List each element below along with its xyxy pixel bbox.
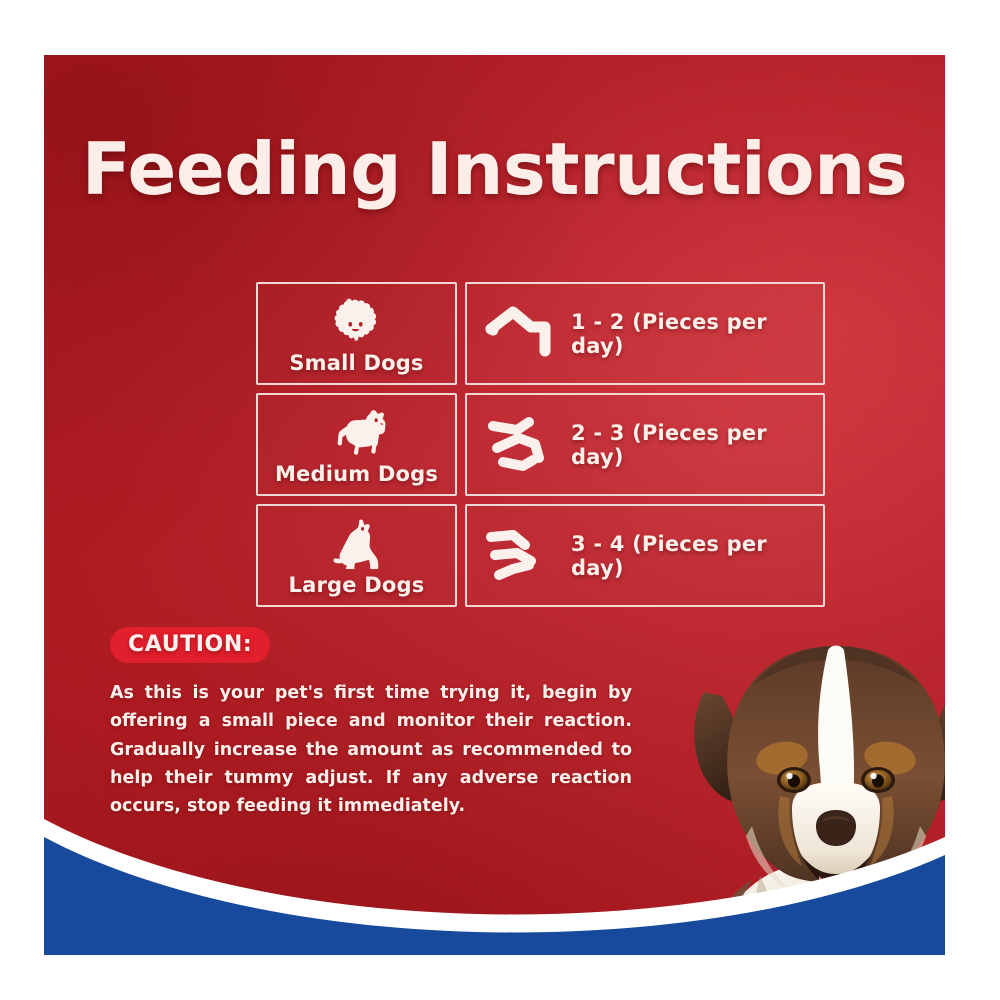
sitting-dog-silhouette-icon — [330, 519, 383, 569]
one-chew-stick-icon — [483, 303, 557, 365]
feeding-instructions-graphic: Feeding Instructions Small Dogs — [0, 0, 1000, 1000]
amount-cell-large: 3 - 4 (Pieces per day) — [465, 504, 825, 607]
size-cell-large: Large Dogs — [256, 504, 457, 607]
table-row: Small Dogs 1 - 2 (Pieces per d — [256, 282, 825, 385]
page-title: Feeding Instructions — [44, 133, 945, 205]
australian-shepherd-dog-photo — [656, 630, 945, 955]
feeding-table: Small Dogs 1 - 2 (Pieces per d — [256, 282, 825, 615]
amount-cell-small: 1 - 2 (Pieces per day) — [465, 282, 825, 385]
table-row: Large Dogs 3 - 4 (Pieces per day) — [256, 504, 825, 607]
red-panel: Feeding Instructions Small Dogs — [44, 55, 945, 955]
amount-label: 2 - 3 (Pieces per day) — [571, 421, 823, 469]
caution-text: As this is your pet's first time trying … — [110, 679, 632, 821]
amount-label: 3 - 4 (Pieces per day) — [571, 532, 823, 580]
size-label: Medium Dogs — [275, 462, 438, 486]
table-row: Medium Dogs 2 - 3 (Pieces per day) — [256, 393, 825, 496]
fluffy-dog-silhouette-icon — [327, 297, 385, 347]
amount-label: 1 - 2 (Pieces per day) — [571, 310, 823, 358]
caution-block: CAUTION: As this is your pet's first tim… — [110, 627, 632, 838]
size-label: Small Dogs — [289, 351, 423, 375]
amount-cell-medium: 2 - 3 (Pieces per day) — [465, 393, 825, 496]
size-cell-small: Small Dogs — [256, 282, 457, 385]
caution-badge: CAUTION: — [110, 627, 270, 663]
standing-dog-silhouette-icon — [325, 408, 389, 458]
three-chew-sticks-icon — [483, 525, 557, 587]
size-cell-medium: Medium Dogs — [256, 393, 457, 496]
size-label: Large Dogs — [289, 573, 425, 597]
two-chew-sticks-icon — [483, 414, 557, 476]
